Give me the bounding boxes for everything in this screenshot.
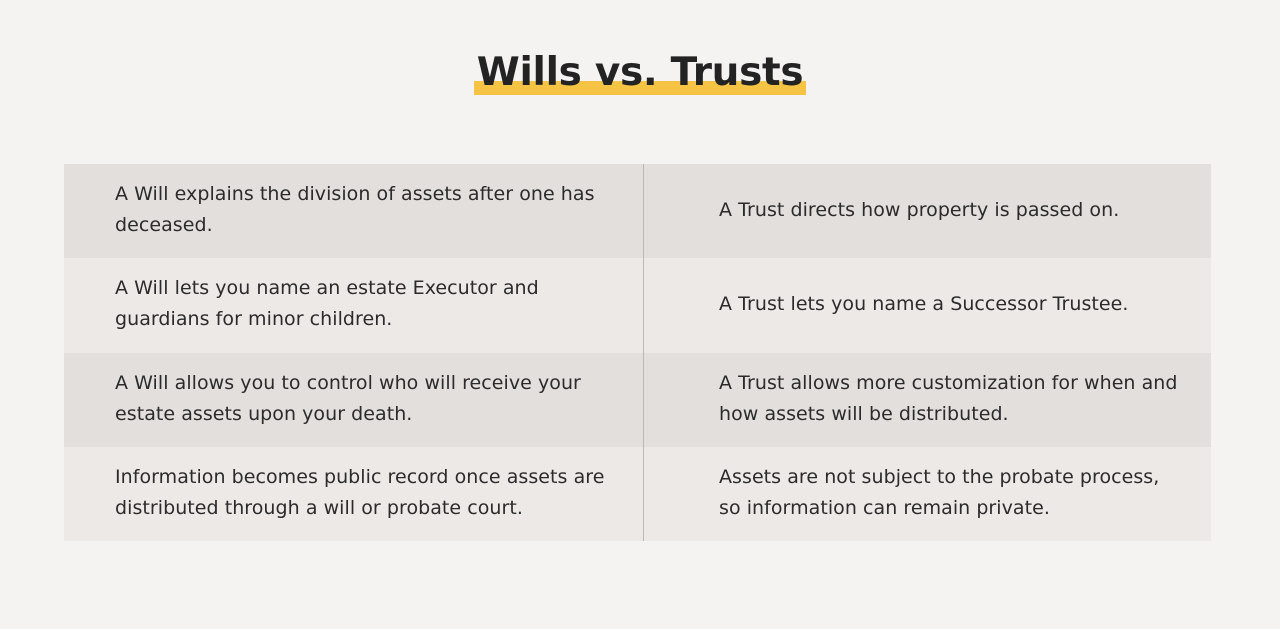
title-inline-group: Wills vs. Trusts: [473, 48, 808, 98]
table-cell-wills: A Will explains the division of assets a…: [64, 164, 643, 258]
cell-text: Information becomes public record once a…: [115, 462, 617, 524]
cell-text: Assets are not subject to the probate pr…: [719, 462, 1185, 524]
cell-text: A Will explains the division of assets a…: [115, 179, 617, 241]
table-cell-wills: Information becomes public record once a…: [64, 447, 643, 541]
title-text: Wills vs. Trusts: [477, 50, 804, 95]
column-divider: [643, 164, 644, 541]
table-cell-wills: A Will allows you to control who will re…: [64, 353, 643, 447]
table-cell-wills: A Will lets you name an estate Executor …: [64, 258, 643, 352]
cell-text: A Will allows you to control who will re…: [115, 368, 617, 430]
table-cell-trusts: Assets are not subject to the probate pr…: [643, 447, 1211, 541]
table-row: A Will lets you name an estate Executor …: [64, 258, 1211, 352]
table-row: A Will explains the division of assets a…: [64, 164, 1211, 258]
slide-canvas: Wills vs. Trusts A Will explains the div…: [0, 0, 1280, 629]
cell-text: A Trust allows more customization for wh…: [719, 368, 1185, 430]
table-cell-trusts: A Trust lets you name a Successor Truste…: [643, 258, 1211, 352]
cell-text: A Trust lets you name a Successor Truste…: [719, 289, 1185, 320]
table-cell-trusts: A Trust directs how property is passed o…: [643, 164, 1211, 258]
cell-text: A Trust directs how property is passed o…: [719, 195, 1185, 226]
table-cell-trusts: A Trust allows more customization for wh…: [643, 353, 1211, 447]
page-title: Wills vs. Trusts: [0, 48, 1280, 110]
cell-text: A Will lets you name an estate Executor …: [115, 273, 617, 335]
comparison-table: A Will explains the division of assets a…: [64, 164, 1211, 541]
table-row: A Will allows you to control who will re…: [64, 353, 1211, 447]
table-row: Information becomes public record once a…: [64, 447, 1211, 541]
